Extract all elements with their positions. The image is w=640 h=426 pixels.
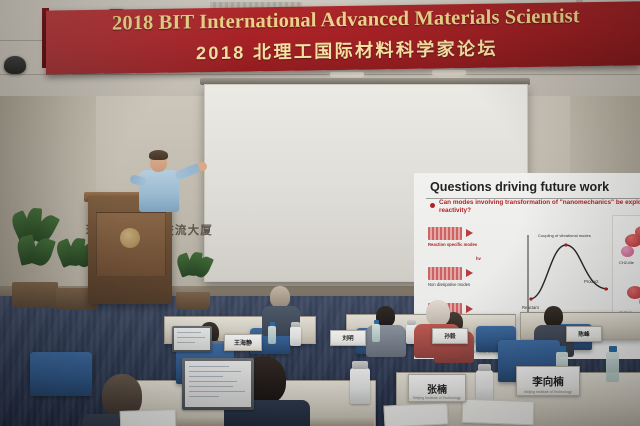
molecule-label: CH2-Me [619, 260, 634, 265]
event-banner: 2018 BIT International Advanced Material… [46, 1, 640, 74]
projection-screen: Questions driving future work Can modes … [204, 84, 528, 282]
name-placard: 李向楠 Beijing Institute of Technology [516, 366, 580, 396]
conference-hall-photo: EPSON 2018 BIT International Advanced Ma… [0, 0, 640, 426]
document-paper [383, 402, 448, 426]
molecule-blob [621, 246, 634, 257]
podium-emblem-icon [120, 228, 140, 248]
bottle-cap [609, 346, 617, 352]
ladder-hv-label: hv [476, 256, 481, 261]
name-placard: 刘明 [330, 330, 366, 346]
screen-text-line [189, 376, 223, 377]
water-bottle [606, 352, 619, 382]
potted-plant [12, 212, 58, 308]
ladder-arrow-icon [466, 229, 473, 237]
plant-pot [12, 282, 58, 308]
plot-left-label: Reactant [522, 305, 539, 310]
bottle-cap [374, 320, 379, 324]
audience-head [426, 300, 450, 326]
thermos-flask [290, 326, 301, 346]
screen-text-line [189, 396, 219, 397]
bottle-cap [270, 322, 275, 326]
laptop-screen [174, 328, 210, 350]
slide-bullet-text: Can modes involving transformation of "n… [439, 199, 640, 215]
name-placard: 孙毅 [432, 328, 468, 344]
name-placard: 张楠 Beijing Institute of Technology [408, 374, 466, 402]
thermos-cap [291, 322, 300, 327]
screen-text-line [189, 391, 245, 392]
thermos-flask [350, 368, 370, 404]
audience-chair [30, 352, 92, 396]
presenter-hand [198, 162, 207, 171]
plot-peak-label: Coupling of vibrational modes [538, 233, 591, 238]
placard-name: 孙毅 [444, 332, 455, 340]
presenter-hair [149, 150, 168, 160]
name-placard: 陈峰 [566, 326, 602, 342]
thermos-cap [352, 361, 368, 369]
presenter-torso [139, 170, 179, 212]
screen-text-line [189, 371, 241, 372]
ladder-band [428, 227, 462, 240]
screen-text-line [177, 342, 195, 343]
screen-text-line [177, 337, 205, 338]
ladder-label: Reaction specific modes [428, 242, 477, 247]
slide-title: Questions driving future work [430, 180, 609, 194]
document-paper [462, 399, 535, 425]
ladder-label: Non dissipative modes [428, 282, 470, 287]
bullet-dot-icon [430, 203, 435, 208]
molecule-blob [627, 286, 640, 299]
screen-text-line [177, 332, 201, 333]
audience-head [270, 286, 290, 308]
ladder-band [428, 267, 462, 280]
screen-text-line [189, 381, 237, 382]
placard-subtitle: Beijing Institute of Technology [517, 390, 579, 394]
screen-text-line [189, 386, 233, 387]
audience-head [544, 306, 563, 327]
placard-name: 刘明 [342, 334, 353, 342]
placard-subtitle: Beijing Institute of Technology [409, 396, 465, 400]
placard-name: 陈峰 [578, 330, 589, 338]
document-paper [120, 409, 177, 426]
placard-name: 张楠 [427, 381, 447, 396]
plot-right-label: Product [584, 279, 598, 284]
ladder-arrow-icon [466, 305, 473, 313]
laptop [182, 358, 254, 410]
thermos-flask [476, 370, 493, 402]
ceiling-light [330, 72, 364, 77]
plant-pot [176, 292, 210, 310]
placard-name: 李向楠 [532, 374, 564, 389]
laptop [172, 326, 212, 352]
ceiling-light [432, 70, 466, 75]
laptop-screen [185, 361, 251, 407]
ceiling-seam [0, 74, 640, 75]
placard-name: 王海静 [234, 338, 252, 347]
wall-speaker-icon [4, 56, 26, 74]
water-bottle [372, 324, 380, 342]
ladder-arrow-icon [466, 269, 473, 277]
potted-plant [176, 254, 210, 310]
thermos-cap [478, 364, 491, 371]
thermos-cap [407, 320, 416, 325]
screen-text-line [189, 366, 229, 367]
bottle-cap [559, 346, 566, 352]
slide-energy-plot: Coupling of vibrational modes Reactant P… [518, 229, 614, 325]
name-placard: 王海静 [224, 334, 262, 351]
water-bottle [268, 326, 276, 344]
